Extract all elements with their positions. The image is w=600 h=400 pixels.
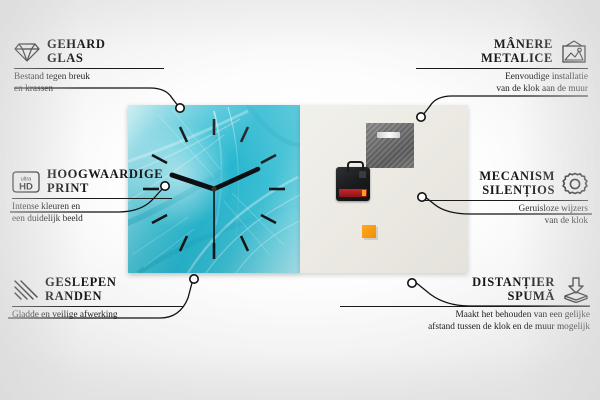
callout-hoogwaardige-print: ultra HD Hoogwaardige Print Intense kleu… [12, 168, 172, 225]
callout-description: Gladde en veilige afwerking [12, 310, 184, 322]
callout-title: Geslepen Randen [45, 276, 117, 303]
callout-description: Bestand tegen breuk en krassen [14, 72, 164, 95]
divider [340, 306, 590, 307]
picture-frame-icon [560, 40, 588, 64]
gear-icon [562, 171, 588, 197]
callout-geslepen-randen: Geslepen Randen Gladde en veilige afwerk… [12, 276, 184, 322]
diamond-icon [14, 41, 40, 63]
callout-title: Gehard Glas [47, 38, 105, 65]
connector-dot-geslepen-randen [190, 275, 198, 283]
callout-distantier-spuma: Distanțier Spumă Maakt het behouden van … [340, 276, 590, 333]
down-arrow-pad-icon [562, 277, 590, 303]
callout-description: Intense kleuren en een duidelijk beeld [12, 202, 172, 225]
svg-text:HD: HD [19, 181, 33, 192]
callout-description: Maakt het behouden van een gelijke afsta… [340, 310, 590, 333]
connector-dot-manere-metalice [417, 113, 425, 121]
connector-dot-gehard-glas [176, 104, 184, 112]
divider [416, 68, 588, 69]
callout-title: Distanțier Spumă [472, 276, 555, 303]
callout-title: Mânere Metalice [481, 38, 553, 65]
divider [14, 68, 164, 69]
divider [12, 306, 184, 307]
callout-gehard-glas: Gehard Glas Bestand tegen breuk en krass… [14, 38, 164, 95]
divider [12, 198, 172, 199]
callout-title: Hoogwaardige Print [47, 168, 163, 195]
callout-description: Eenvoudige installatie van de klok aan d… [416, 72, 588, 95]
connector-manere-metalice [423, 96, 588, 115]
infographic-canvas: Gehard Glas Bestand tegen breuk en krass… [0, 0, 600, 400]
callout-title: Mecanism Silențios [479, 170, 555, 197]
callout-manere-metalice: Mânere Metalice Eenvoudige installatie v… [416, 38, 588, 95]
beveled-edges-icon [12, 279, 38, 301]
callout-description: Geruisloze wijzers van de klok [423, 204, 588, 227]
callout-mecanism-silentios: Mecanism Silențios Geruisloze wijzers va… [423, 170, 588, 227]
divider [423, 200, 588, 201]
ultra-hd-icon: ultra HD [12, 170, 40, 194]
